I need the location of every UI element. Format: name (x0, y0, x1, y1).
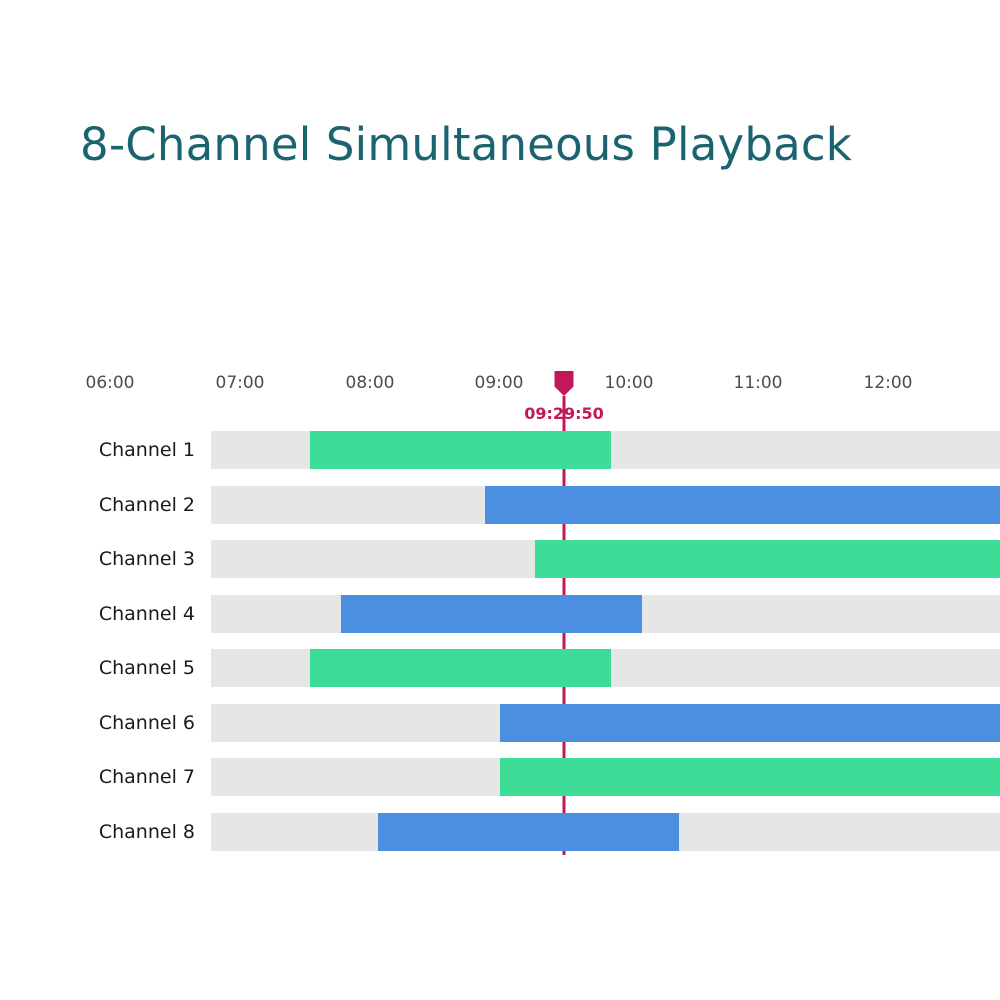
channel-row-label: Channel 2 (99, 486, 211, 524)
axis-tick-label: 08:00 (346, 372, 395, 394)
channel-row: Channel 1 (0, 431, 1000, 469)
channel-row-label: Channel 4 (99, 595, 211, 633)
axis-tick-label: 07:00 (216, 372, 265, 394)
channel-row-label: Channel 1 (99, 431, 211, 469)
axis-tick-label: 10:00 (605, 372, 654, 394)
playback-clip-bar[interactable] (310, 431, 611, 469)
axis-tick-label: 06:00 (86, 372, 135, 394)
axis-tick-label: 12:00 (864, 372, 913, 394)
playback-clip-bar[interactable] (310, 649, 611, 687)
playback-clip-bar[interactable] (341, 595, 642, 633)
playback-clip-bar[interactable] (485, 486, 1000, 524)
channel-row: Channel 5 (0, 649, 1000, 687)
axis-tick-label: 09:00 (475, 372, 524, 394)
channel-row: Channel 6 (0, 704, 1000, 742)
channel-row-label: Channel 6 (99, 704, 211, 742)
playhead-time-label: 09:29:50 (524, 404, 604, 424)
channel-row: Channel 7 (0, 758, 1000, 796)
playback-clip-bar[interactable] (378, 813, 679, 851)
playback-clip-bar[interactable] (500, 758, 1000, 796)
channel-row-label: Channel 5 (99, 649, 211, 687)
channel-row: Channel 8 (0, 813, 1000, 851)
channel-row: Channel 2 (0, 486, 1000, 524)
playback-timeline-view: 8-Channel Simultaneous Playback 06:0007:… (0, 0, 1000, 1000)
time-axis: 06:0007:0008:0009:0010:0011:0012:00 (0, 372, 1000, 396)
channel-row-label: Channel 7 (99, 758, 211, 796)
channel-row-label: Channel 8 (99, 813, 211, 851)
channel-row-label: Channel 3 (99, 540, 211, 578)
channel-row: Channel 3 (0, 540, 1000, 578)
playback-clip-bar[interactable] (535, 540, 1000, 578)
page-title: 8-Channel Simultaneous Playback (80, 122, 852, 167)
axis-tick-label: 11:00 (734, 372, 783, 394)
playback-clip-bar[interactable] (500, 704, 1000, 742)
channel-row: Channel 4 (0, 595, 1000, 633)
